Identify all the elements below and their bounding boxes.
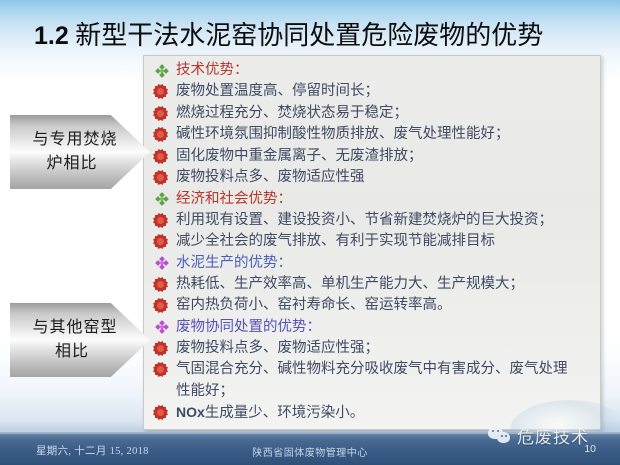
red-floret-bullet-icon xyxy=(154,85,167,98)
title-number: 1.2 xyxy=(34,22,69,50)
list-item-label: 生成量少、环境污染小。 xyxy=(205,405,365,421)
red-floret-bullet-icon xyxy=(154,128,167,141)
callout-compare-kiln-types: 与其他窑型 相比 xyxy=(10,303,150,377)
list-item-label: 废物投料点多、废物适应性强 xyxy=(176,169,365,185)
list-item-label: 废物处置温度高、停留时间长； xyxy=(176,83,379,99)
list-item: 废物投料点多、废物适应性强； xyxy=(150,338,594,360)
list-item: 气固混合充分、碱性物料充分吸收废气中有害成分、废气处理 xyxy=(150,359,594,381)
list-item-label: 热耗低、生产效率高、单机生产能力大、生产规模大； xyxy=(176,276,524,292)
violet-diamond-bullet-icon xyxy=(156,322,167,333)
page-title: 1.2 新型干法水泥窑协同处置危险废物的优势 xyxy=(34,19,600,53)
group-heading-label: 水泥生产的优势： xyxy=(176,255,292,271)
list-item: 利用现有设置、建设投资小、节省新建焚烧炉的巨大投资； xyxy=(150,210,594,232)
list-item: 碱性环境氛围抑制酸性物质排放、废气处理性能好； xyxy=(150,124,594,146)
callout-line-1: 与其他窑型 xyxy=(32,316,127,340)
list-item-label-prefix: NOx xyxy=(176,404,205,420)
list-item-label: 减少全社会的废气排放、有利于实现节能减排目标 xyxy=(176,233,495,249)
red-floret-bullet-icon xyxy=(154,299,167,312)
group-cement-production-advantages: 水泥生产的优势： 热耗低、生产效率高、单机生产能力大、生产规模大； 窑内热负荷小… xyxy=(150,253,594,317)
red-floret-bullet-icon xyxy=(154,406,167,419)
group-co-processing-advantages: 废物协同处置的优势： 废物投料点多、废物适应性强； 气固混合充分、碱性物料充分吸… xyxy=(150,317,594,425)
red-floret-bullet-icon xyxy=(154,214,167,227)
red-floret-bullet-icon xyxy=(154,278,167,291)
red-floret-bullet-icon xyxy=(154,235,167,248)
green-diamond-bullet-icon xyxy=(156,194,167,205)
watermark: 危废技术 xyxy=(488,418,614,452)
group-heading-label: 经济和社会优势： xyxy=(176,191,292,207)
violet-diamond-bullet-icon xyxy=(156,258,167,269)
list-item: 废物处置温度高、停留时间长； xyxy=(150,81,594,103)
group-heading: 技术优势： xyxy=(150,60,594,81)
group-heading: 废物协同处置的优势： xyxy=(150,317,594,338)
callout-line-1: 与专用焚烧 xyxy=(32,128,127,152)
red-floret-bullet-icon xyxy=(154,342,167,355)
callout-line-2: 炉相比 xyxy=(46,152,113,176)
group-technical-advantages: 技术优势： 废物处置温度高、停留时间长； 燃烧过程充分、焚烧状态易于稳定； 碱性… xyxy=(150,60,594,189)
list-item: 减少全社会的废气排放、有利于实现节能减排目标 xyxy=(150,231,594,253)
list-item-label: 性能好； xyxy=(176,383,234,399)
title-text: 新型干法水泥窑协同处置危险废物的优势 xyxy=(75,21,543,50)
group-heading-label: 技术优势： xyxy=(176,62,249,78)
content-panel: 技术优势： 废物处置温度高、停留时间长； 燃烧过程充分、焚烧状态易于稳定； 碱性… xyxy=(143,55,601,430)
slide: 1.2 新型干法水泥窑协同处置危险废物的优势 技术优势： 废物处置温度高、停留时… xyxy=(0,0,620,465)
callout-compare-incinerator: 与专用焚烧 炉相比 xyxy=(10,115,150,189)
red-floret-bullet-icon xyxy=(154,171,167,184)
list-item-label: 窑内热负荷小、窑衬寿命长、窑运转率高。 xyxy=(176,297,452,313)
watermark-label: 危废技术 xyxy=(517,423,589,448)
group-heading: 水泥生产的优势： xyxy=(150,253,594,274)
list-item-label: 固化废物中重金属离子、无废渣排放； xyxy=(176,148,423,164)
list-item: 窑内热负荷小、窑衬寿命长、窑运转率高。 xyxy=(150,295,594,317)
list-item-label: 废物投料点多、废物适应性强； xyxy=(176,340,379,356)
list-item: 燃烧过程充分、焚烧状态易于稳定； xyxy=(150,103,594,125)
green-diamond-bullet-icon xyxy=(156,65,167,76)
list-item: 废物投料点多、废物适应性强 xyxy=(150,167,594,189)
list-item-label: 燃烧过程充分、焚烧状态易于稳定； xyxy=(176,105,408,121)
list-item: 固化废物中重金属离子、无废渣排放； xyxy=(150,146,594,168)
list-item: 热耗低、生产效率高、单机生产能力大、生产规模大； xyxy=(150,274,594,296)
red-floret-bullet-icon xyxy=(154,150,167,163)
list-item-label: 利用现有设置、建设投资小、节省新建焚烧炉的巨大投资； xyxy=(176,212,553,228)
list-item-continuation: 性能好； xyxy=(150,381,594,403)
red-floret-bullet-icon xyxy=(154,363,167,376)
list-item-label: 碱性环境氛围抑制酸性物质排放、废气处理性能好； xyxy=(176,126,510,142)
group-heading: 经济和社会优势： xyxy=(150,189,594,210)
group-economic-social-advantages: 经济和社会优势： 利用现有设置、建设投资小、节省新建焚烧炉的巨大投资； 减少全社… xyxy=(150,189,594,253)
red-floret-bullet-icon xyxy=(154,107,167,120)
list-item-label: 气固混合充分、碱性物料充分吸收废气中有害成分、废气处理 xyxy=(176,361,568,377)
wechat-icon xyxy=(488,426,512,444)
group-heading-label: 废物协同处置的优势： xyxy=(176,319,321,335)
callout-line-2: 相比 xyxy=(55,340,105,364)
